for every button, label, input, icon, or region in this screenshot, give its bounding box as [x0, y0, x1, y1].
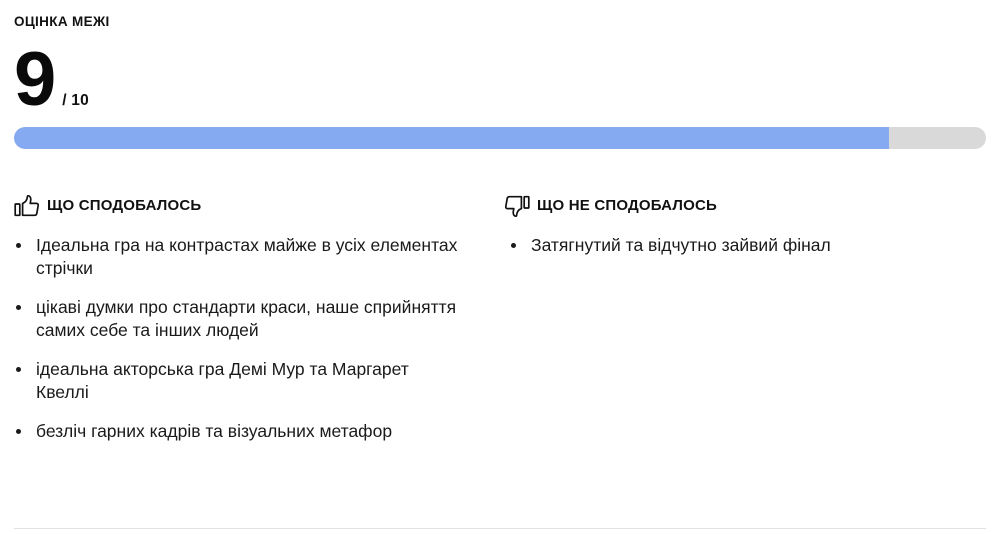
- cons-list: Затягнутий та відчутно зайвий фінал: [504, 234, 986, 257]
- list-item-text: Затягнутий та відчутно зайвий фінал: [531, 235, 831, 255]
- rating-progress-fill: [14, 127, 889, 149]
- score-value: 9: [14, 44, 54, 116]
- verdict-columns: ЩО СПОДОБАЛОСЬ Ідеальна гра на контраста…: [14, 194, 986, 443]
- pros-header: ЩО СПОДОБАЛОСЬ: [14, 194, 504, 218]
- list-item-text: Ідеальна гра на контрастах майже в усіх …: [36, 235, 457, 278]
- bullet-icon: [16, 243, 21, 248]
- thumbs-up-icon: [14, 195, 40, 217]
- bullet-icon: [16, 367, 21, 372]
- rating-progress-bar: [14, 127, 986, 149]
- list-item: безліч гарних кадрів та візуальних метаф…: [14, 420, 466, 443]
- list-item-text: безліч гарних кадрів та візуальних метаф…: [36, 421, 392, 441]
- list-item: ідеальна акторська гра Демі Мур та Марга…: [14, 358, 466, 404]
- bullet-icon: [16, 429, 21, 434]
- list-item: цікаві думки про стандарти краси, наше с…: [14, 296, 466, 342]
- section-divider: [14, 528, 986, 529]
- list-item-text: цікаві думки про стандарти краси, наше с…: [36, 297, 456, 340]
- cons-heading: ЩО НЕ СПОДОБАЛОСЬ: [537, 197, 717, 215]
- rating-verdict-card: ОЦІНКА МЕЖІ 9 / 10 ЩО СПОДОБАЛОСЬ Ідеа: [0, 0, 1000, 534]
- pros-list: Ідеальна гра на контрастах майже в усіх …: [14, 234, 504, 443]
- pros-column: ЩО СПОДОБАЛОСЬ Ідеальна гра на контраста…: [14, 194, 504, 443]
- pros-heading: ЩО СПОДОБАЛОСЬ: [47, 197, 201, 215]
- list-item: Затягнутий та відчутно зайвий фінал: [504, 234, 961, 257]
- cons-column: ЩО НЕ СПОДОБАЛОСЬ Затягнутий та відчутно…: [504, 194, 986, 443]
- score-out-of: / 10: [62, 93, 89, 109]
- bullet-icon: [511, 243, 516, 248]
- thumbs-down-icon: [504, 195, 530, 217]
- bullet-icon: [16, 305, 21, 310]
- page-title: ОЦІНКА МЕЖІ: [14, 0, 986, 30]
- cons-header: ЩО НЕ СПОДОБАЛОСЬ: [504, 194, 986, 218]
- score-display: 9 / 10: [14, 44, 986, 116]
- list-item: Ідеальна гра на контрастах майже в усіх …: [14, 234, 466, 280]
- list-item-text: ідеальна акторська гра Демі Мур та Марга…: [36, 359, 409, 402]
